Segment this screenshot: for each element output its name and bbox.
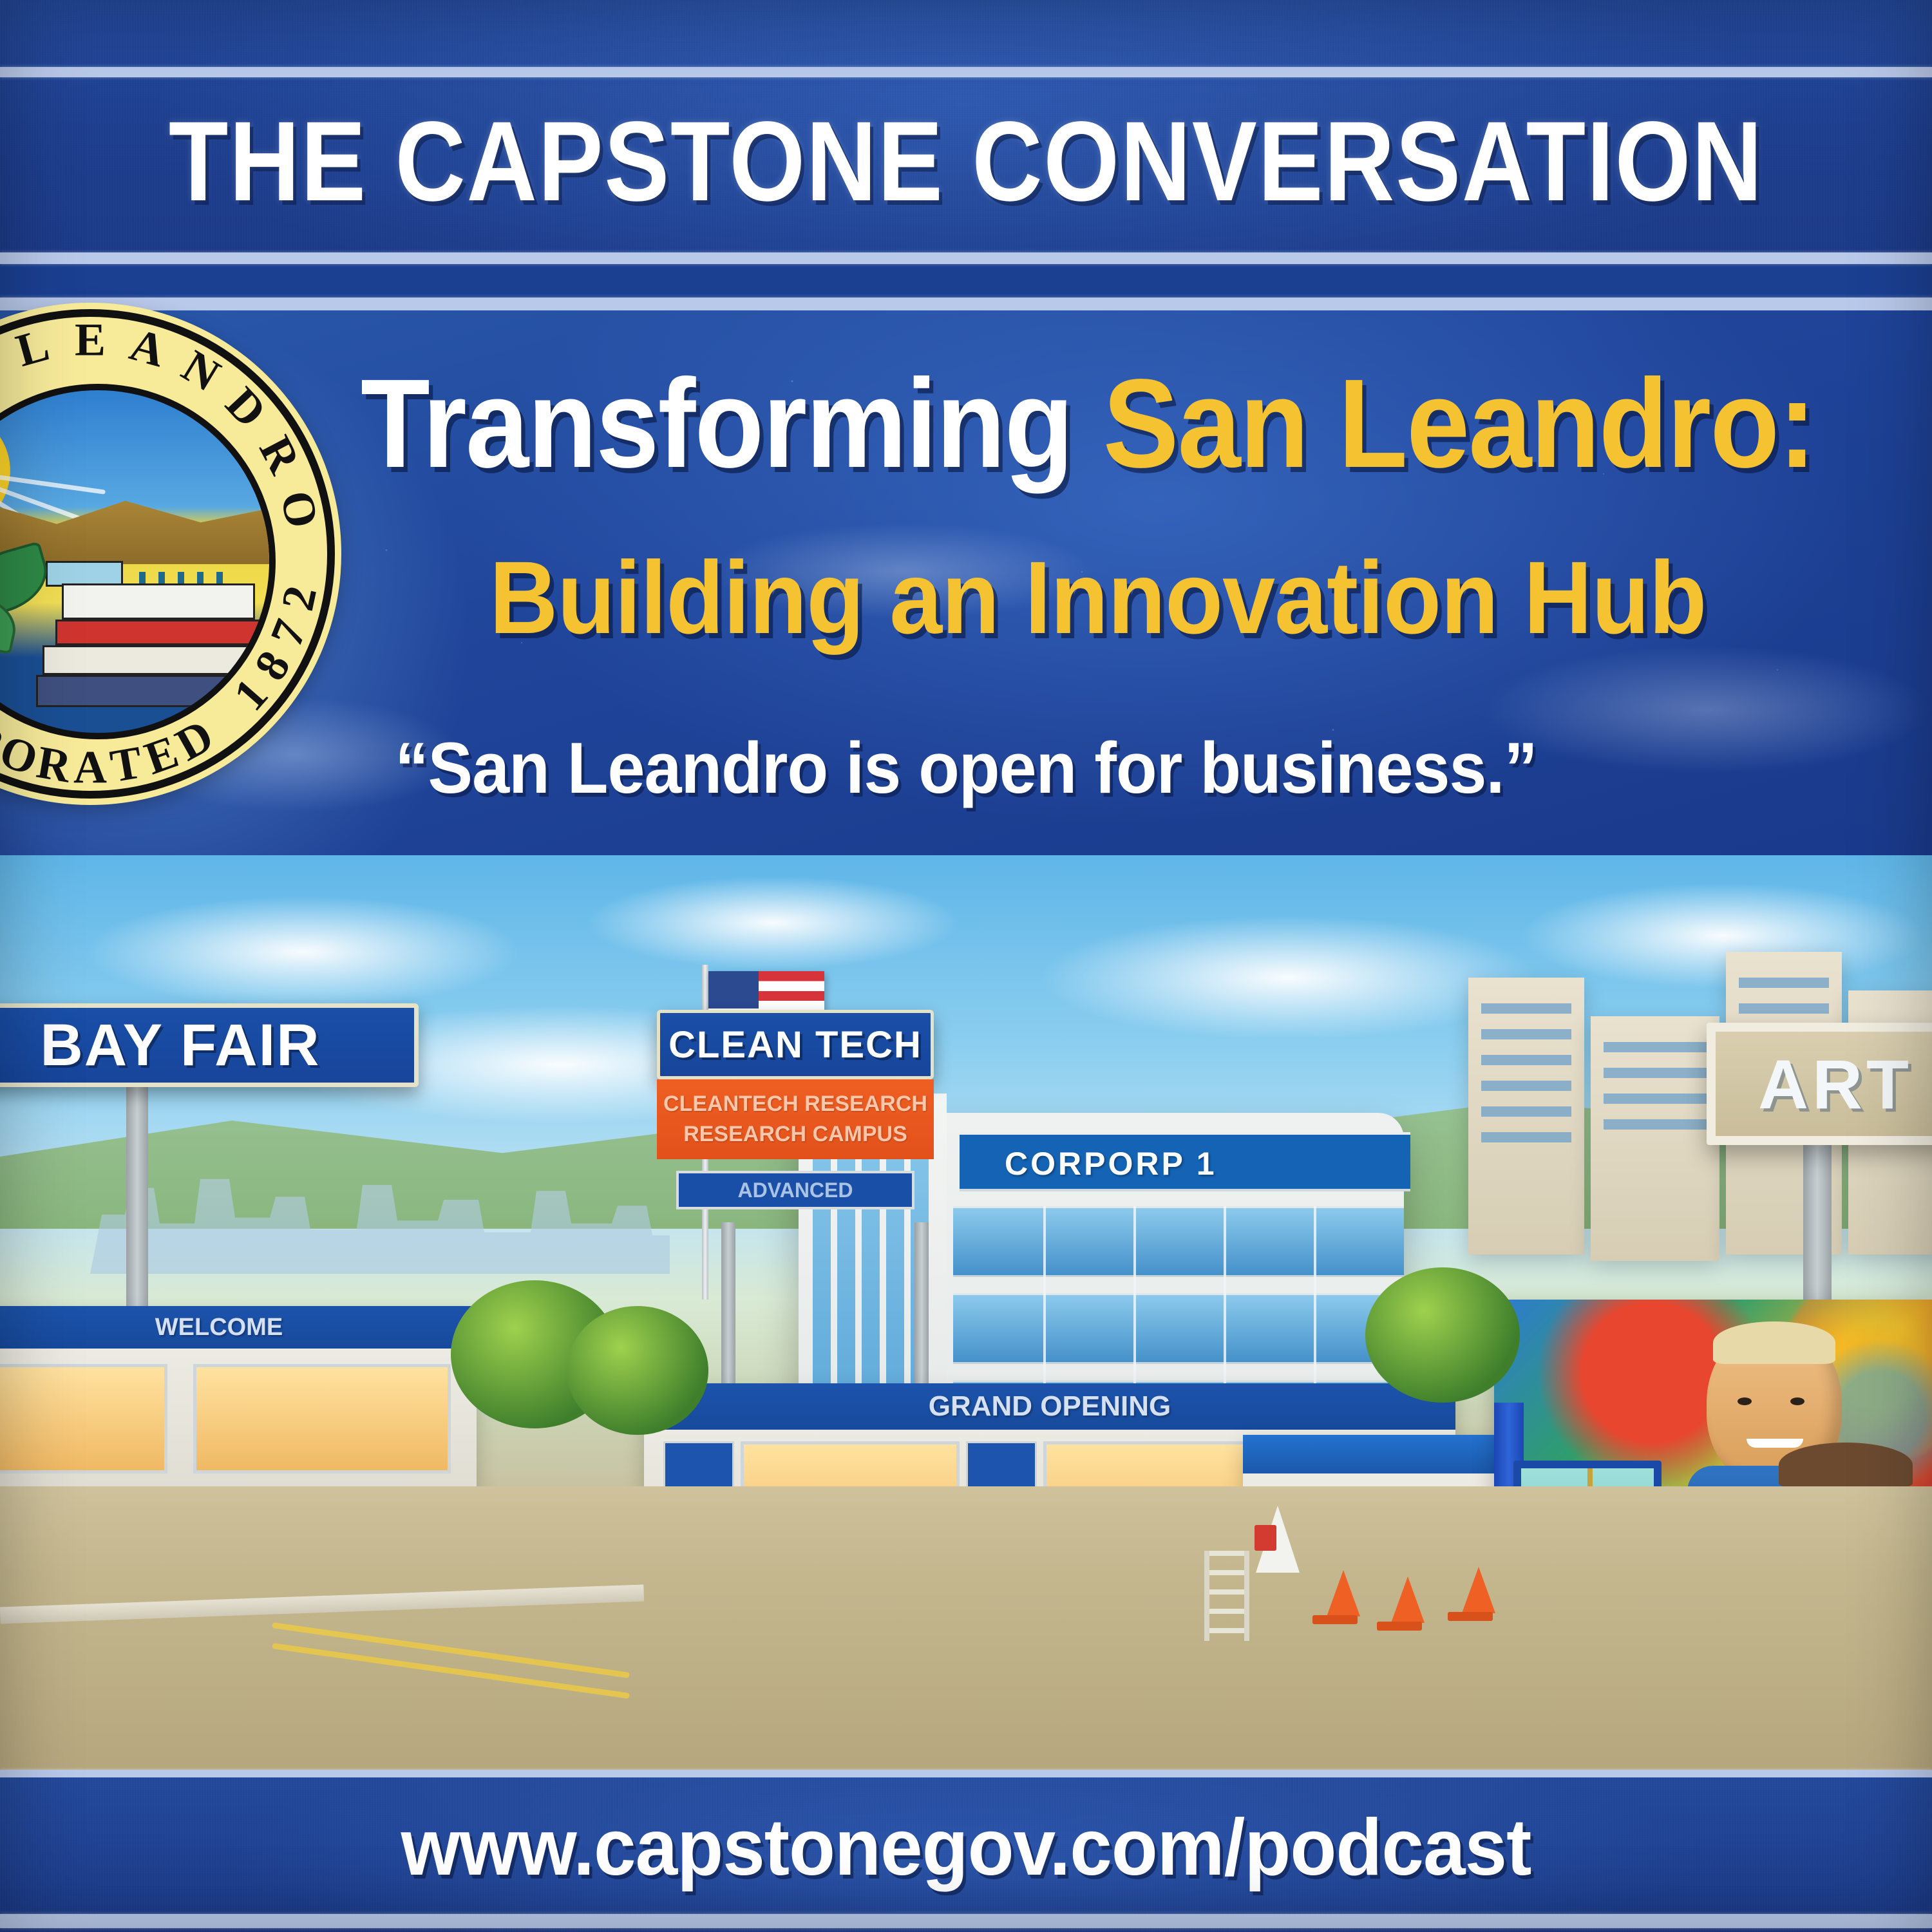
eye bbox=[1738, 1397, 1752, 1405]
seal-ring-char: R bbox=[248, 428, 311, 482]
tower-window bbox=[1604, 1042, 1707, 1052]
bay-fair-sign[interactable]: BAY FAIR bbox=[0, 1003, 419, 1087]
hair bbox=[1779, 1443, 1913, 1488]
footer-url[interactable]: www.capstonegov.com/podcast bbox=[48, 1802, 1884, 1893]
city-seal: SAN LEANDROINCORPORATED 1872 bbox=[0, 309, 335, 799]
podcast-cover-art: THE CAPSTONE CONVERSATION Transforming S… bbox=[0, 0, 1932, 1932]
tower-window bbox=[1481, 1132, 1571, 1142]
clean-tech-sign-label: CLEAN TECH bbox=[668, 1023, 922, 1066]
bay-fair-sign-label: BAY FAIR bbox=[40, 1012, 320, 1079]
seal-ring-char: A bbox=[73, 741, 107, 795]
clean-tech-lower-sign: ADVANCED bbox=[676, 1171, 914, 1209]
residential-tower bbox=[1591, 1016, 1719, 1261]
clean-tech-sign[interactable]: CLEAN TECH bbox=[657, 1010, 934, 1079]
clean-tech-signpost bbox=[914, 1222, 929, 1390]
cloud bbox=[77, 894, 528, 1010]
left-storefront-sign: WELCOME bbox=[0, 1306, 477, 1349]
pull-quote: “San Leandro is open for business.” bbox=[68, 726, 1864, 810]
subheadline: Building an Innovation Hub bbox=[489, 546, 1852, 649]
headline-word-yellow: San Leandro: bbox=[1103, 353, 1815, 494]
seal-ring-char: L bbox=[10, 318, 55, 378]
scene-photo: CORPORP 1 BAY FAIR CLEAN TECH CLEANTECH … bbox=[0, 855, 1932, 1777]
art-billboard-label: ART bbox=[1758, 1044, 1913, 1124]
seal-ring-char: O bbox=[269, 486, 329, 533]
traffic-cone bbox=[1327, 1570, 1360, 1616]
storefront-window bbox=[0, 1364, 167, 1473]
tower-window bbox=[1604, 1094, 1707, 1104]
tree bbox=[1365, 1267, 1520, 1403]
left-storefront-sign-label: WELCOME bbox=[155, 1314, 283, 1341]
tower-window bbox=[1739, 978, 1829, 988]
window-row bbox=[953, 1293, 1404, 1364]
seal-ring-char: D bbox=[215, 377, 277, 438]
eye bbox=[1790, 1397, 1804, 1405]
bay-fair-signpost bbox=[126, 1054, 148, 1324]
clean-tech-subsign: CLEANTECH RESEARCH RESEARCH CAMPUS bbox=[657, 1079, 934, 1159]
show-title: THE CAPSTONE CONVERSATION bbox=[135, 72, 1797, 251]
seal-ring-char: E bbox=[75, 314, 106, 367]
seal-building bbox=[46, 561, 123, 587]
seal-ring-char: 2 bbox=[270, 582, 328, 615]
storefront-sign-label: GRAND OPENING bbox=[929, 1390, 1171, 1423]
art-billboard-post bbox=[1803, 1119, 1832, 1312]
mouth bbox=[1747, 1439, 1803, 1448]
tower-window bbox=[1481, 1081, 1571, 1091]
tower-window bbox=[1739, 1003, 1829, 1014]
storefront-sign: GRAND OPENING bbox=[644, 1383, 1455, 1430]
tower-window bbox=[1481, 1055, 1571, 1065]
headline: Transforming San Leandro: bbox=[361, 361, 1844, 487]
cloud bbox=[1513, 881, 1932, 990]
traffic-cone bbox=[1391, 1577, 1425, 1623]
traffic-cone-base bbox=[1377, 1622, 1422, 1631]
hair bbox=[1713, 1321, 1835, 1364]
cloud bbox=[580, 875, 966, 971]
divider-stripe-third bbox=[0, 298, 1932, 310]
storefront-window bbox=[193, 1364, 451, 1473]
a-frame-badge bbox=[1255, 1525, 1276, 1551]
seal-ring-char: N bbox=[173, 339, 229, 402]
flag-canton bbox=[708, 971, 759, 1009]
clean-tech-subsign-line2: RESEARCH CAMPUS bbox=[683, 1122, 907, 1147]
clean-tech-signpost bbox=[721, 1222, 735, 1390]
traffic-cone bbox=[1462, 1567, 1495, 1613]
tower-window bbox=[1481, 1029, 1571, 1039]
seal-ring-char: A bbox=[124, 317, 171, 378]
seal-building bbox=[43, 645, 274, 675]
clean-tech-lower-sign-label: ADVANCED bbox=[738, 1179, 853, 1202]
tower-window bbox=[1481, 1003, 1571, 1014]
seal-ring-char: T bbox=[107, 735, 146, 793]
traffic-cone-base bbox=[1312, 1615, 1358, 1624]
ladder bbox=[1204, 1551, 1249, 1641]
hero-building-sign: CORPORP 1 bbox=[1005, 1145, 1217, 1182]
sun-ray bbox=[0, 468, 106, 495]
seal-building bbox=[62, 583, 255, 620]
tower-window bbox=[1481, 1106, 1571, 1117]
traffic-cone-base bbox=[1448, 1612, 1493, 1621]
divider-stripe-bottom bbox=[0, 1914, 1932, 1928]
street-road bbox=[0, 1486, 1932, 1777]
window-row bbox=[953, 1206, 1404, 1277]
divider-stripe-second bbox=[0, 252, 1932, 264]
seal-building bbox=[36, 675, 276, 707]
seal-building bbox=[55, 620, 268, 645]
tree bbox=[567, 1306, 708, 1435]
art-billboard[interactable]: ART bbox=[1707, 1023, 1932, 1145]
clean-tech-subsign-line1: CLEANTECH RESEARCH bbox=[663, 1092, 927, 1117]
tower-window bbox=[1604, 1068, 1707, 1078]
tower-window bbox=[1604, 1119, 1707, 1130]
headline-word-white: Transforming bbox=[361, 353, 1073, 494]
